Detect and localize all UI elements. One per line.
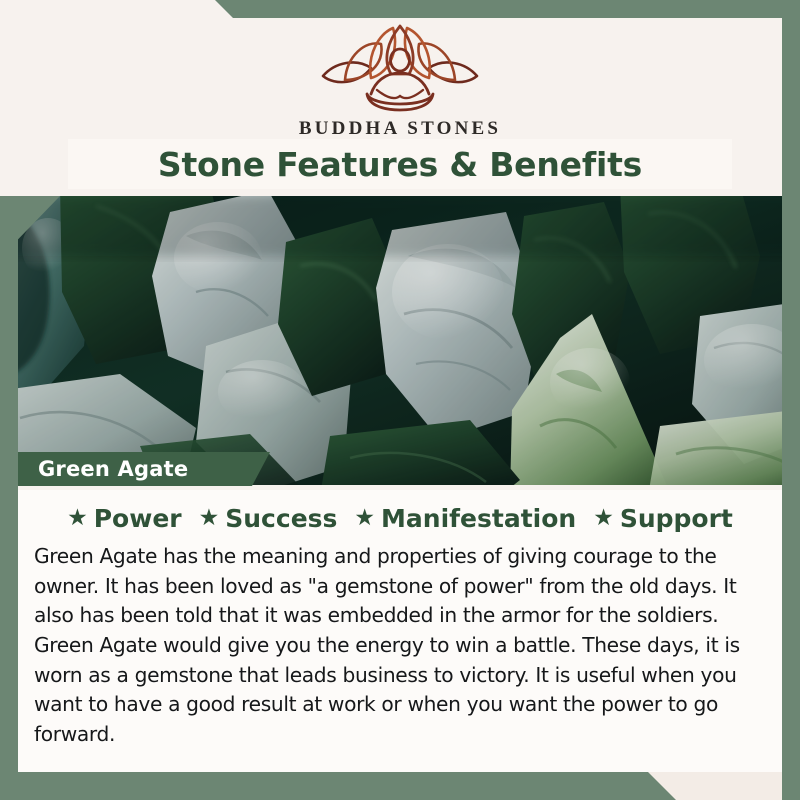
page-title: Stone Features & Benefits xyxy=(158,145,642,184)
keyword-power: ★ Power xyxy=(67,504,182,533)
lotus-meditation-icon xyxy=(305,22,495,114)
stone-name-label: Green Agate xyxy=(18,452,270,486)
star-icon: ★ xyxy=(593,507,614,530)
stone-photo-graphic xyxy=(0,196,800,485)
card-header: BUDDHA STONES Stone Features & Benefits xyxy=(0,0,800,196)
section-title-band: Stone Features & Benefits xyxy=(68,139,732,189)
frame-left-bar xyxy=(0,196,18,800)
brand-name: BUDDHA STONES xyxy=(0,118,800,140)
stone-info-card: BUDDHA STONES Stone Features & Benefits xyxy=(0,0,800,800)
benefit-keywords: ★ Power ★ Success ★ Manifestation ★ Supp… xyxy=(18,490,782,533)
keyword-label: Power xyxy=(94,504,182,533)
stone-photo xyxy=(0,196,800,485)
keyword-success: ★ Success xyxy=(199,504,338,533)
frame-right-bar xyxy=(782,0,800,800)
star-icon: ★ xyxy=(199,507,220,530)
star-icon: ★ xyxy=(67,507,88,530)
keyword-support: ★ Support xyxy=(593,504,733,533)
stone-details-panel: ★ Power ★ Success ★ Manifestation ★ Supp… xyxy=(18,490,782,772)
star-icon: ★ xyxy=(354,507,375,530)
stone-description: Green Agate has the meaning and properti… xyxy=(18,542,782,750)
keyword-label: Support xyxy=(620,504,733,533)
keyword-manifestation: ★ Manifestation xyxy=(354,504,576,533)
keyword-label: Success xyxy=(225,504,337,533)
keyword-label: Manifestation xyxy=(381,504,576,533)
brand-logo: BUDDHA STONES xyxy=(0,22,800,140)
stone-name-text: Green Agate xyxy=(38,457,188,481)
